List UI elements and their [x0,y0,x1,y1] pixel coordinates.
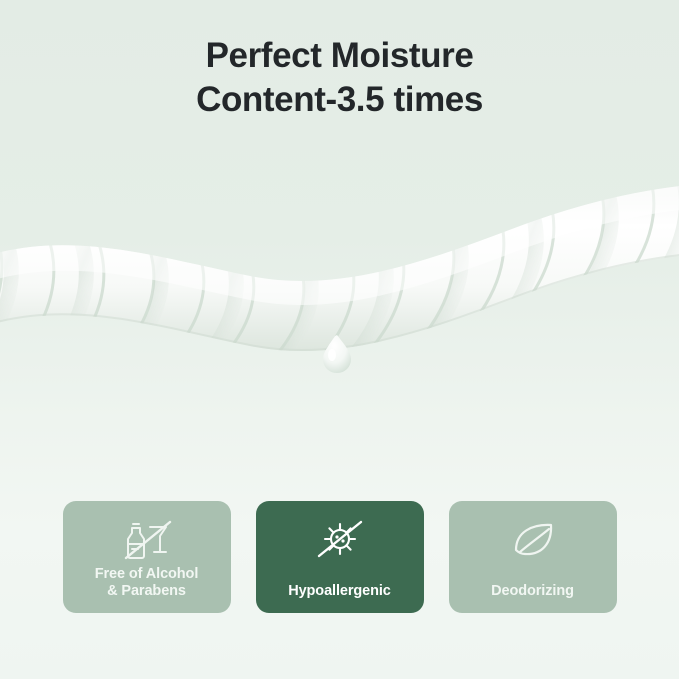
badge-hypoallergenic[interactable]: Hypoallergenic [256,501,424,613]
badge-label-line-1: Free of Alcohol [95,566,199,582]
towel-rope-svg [0,150,679,380]
leaf-icon [505,513,561,565]
badge-deodorizing[interactable]: Deodorizing [449,501,617,613]
product-feature-image: Perfect Moisture Content-3.5 times [0,0,679,679]
towel-rope-illustration [0,150,679,380]
page-title: Perfect Moisture Content-3.5 times [0,34,679,122]
badge-free-of-alcohol-parabens[interactable]: Free of Alcohol & Parabens [63,501,231,613]
badge-label-free-of-alcohol-parabens: Free of Alcohol & Parabens [72,566,222,600]
no-alcohol-paraben-icon [119,513,175,565]
badge-label-hypoallergenic: Hypoallergenic [265,583,415,600]
page-title-line-2: Content-3.5 times [0,78,679,122]
badge-label-line-1: Deodorizing [491,583,574,599]
badge-label-line-1: Hypoallergenic [288,583,391,599]
no-germ-icon [312,513,368,565]
droplet-highlight [328,349,336,361]
page-title-line-1: Perfect Moisture [0,34,679,78]
badge-label-line-2: & Parabens [107,583,186,599]
feature-badge-row: Free of Alcohol & Parabens Hypoalle [0,501,679,613]
badge-label-deodorizing: Deodorizing [458,583,608,600]
